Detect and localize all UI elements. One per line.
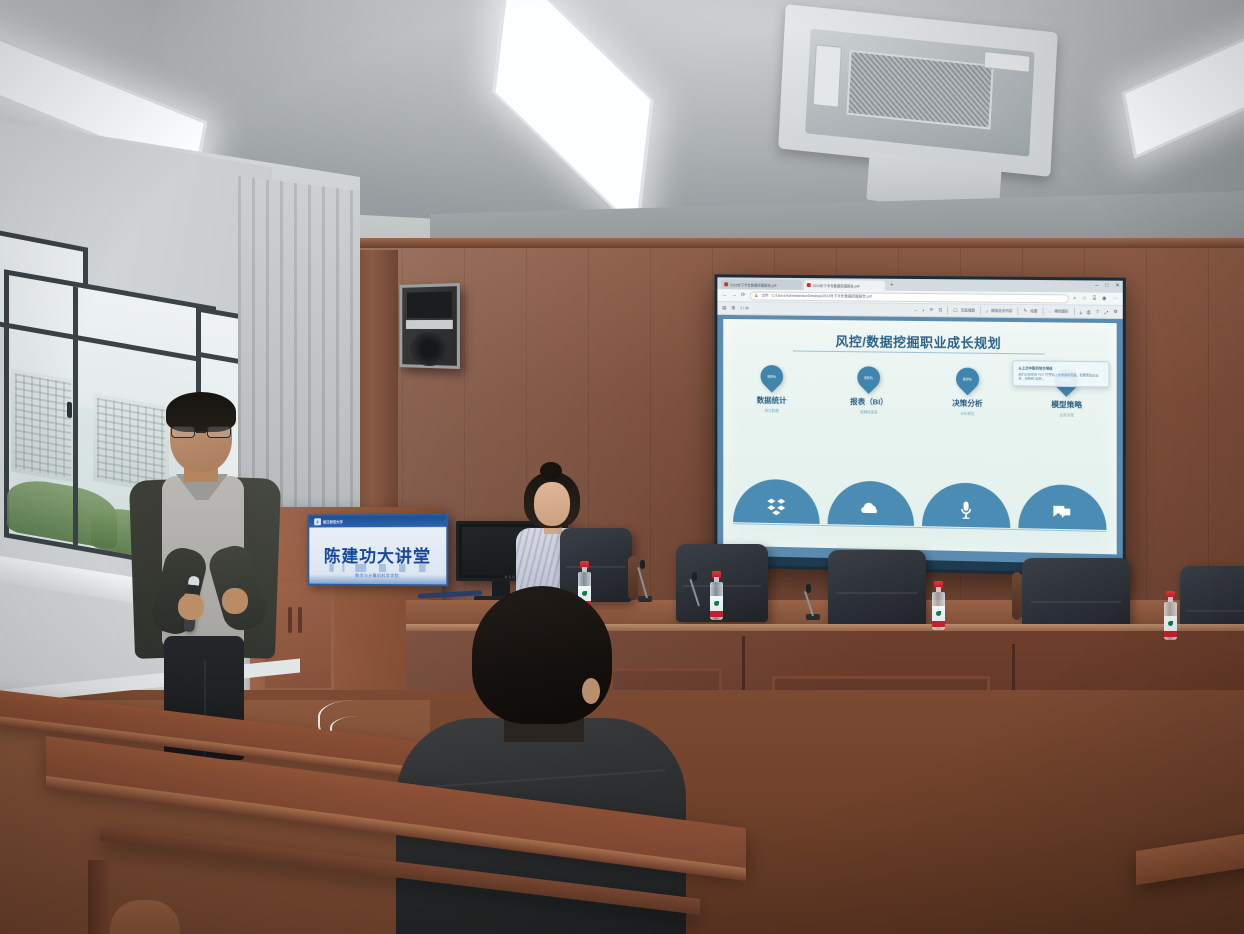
close-button[interactable]: ✕: [1115, 283, 1119, 289]
microphone-head-2: [692, 572, 697, 581]
tooltip-body: 我们已将你的 PDF 打开到上次阅读的页面。若要更改此设置，请转到“设置”。: [1018, 372, 1103, 382]
audience-ear: [582, 678, 600, 704]
water-bottle-2[interactable]: [710, 572, 723, 620]
bottle-label: [1164, 616, 1177, 631]
stage-1-sub: 统计数据: [765, 409, 779, 414]
stage-4-sub: 业务决策: [1059, 413, 1074, 418]
reload-icon[interactable]: ⟳: [741, 292, 746, 298]
slide-title: 风控/数据挖掘职业成长规划: [723, 330, 1116, 354]
university-logo-text: 浙江师范大学: [323, 519, 343, 524]
toolbar-separator: [1017, 307, 1018, 315]
new-tab-button[interactable]: +: [890, 282, 894, 291]
presenter-glasses: [170, 426, 232, 438]
forward-icon[interactable]: →: [732, 292, 737, 298]
ac-grille: [847, 50, 994, 130]
highlight-icon: ✎: [1023, 308, 1027, 314]
toolbar-spacer: [754, 308, 910, 310]
cloud-upload-icon: [861, 498, 881, 518]
presenter-hand-right: [222, 588, 248, 614]
bottle-body: [932, 592, 945, 630]
stage-2-pin: 85%: [853, 362, 885, 394]
zoom-out-button[interactable]: −: [914, 307, 917, 312]
podium-handle[interactable]: [298, 607, 302, 633]
browser-tab-2[interactable]: 2023年下半年数据挖掘报告.pdf: [804, 280, 885, 291]
microphone-head-3: [806, 584, 811, 593]
settings-icon[interactable]: ⚙: [1113, 309, 1117, 315]
stage-3-pin-value: 90%: [963, 377, 972, 382]
url-scheme-label: 文件: [762, 293, 769, 298]
stage-1-pin-value: 90%: [767, 374, 775, 379]
browser-tab-1-title: 2023年下半年数据挖掘报告.pdf: [730, 282, 776, 287]
bottle-label: [710, 596, 723, 611]
read-aloud-icon: ♪: [986, 308, 988, 313]
speaker-badge: [406, 320, 453, 329]
building-view-left: [11, 368, 75, 482]
star-icon[interactable]: ☆: [1082, 295, 1087, 301]
window-controls: – □ ✕: [1095, 283, 1119, 289]
university-logo-mark: Z: [314, 518, 321, 525]
water-bottle-4[interactable]: [1164, 592, 1177, 640]
chat-bubbles-icon: [1052, 502, 1072, 523]
bottle-label: [932, 606, 945, 621]
bottle-body: [710, 582, 723, 620]
address-bar-actions: ⌕ ☆ ⌸ ◉ ⋯: [1073, 295, 1117, 301]
stage-2-icon-dome: [827, 480, 914, 526]
stage-2-pin-value: 85%: [865, 375, 874, 380]
stage-3: 90% 决策分析 分析报告: [918, 367, 1017, 418]
page-fit-icon[interactable]: ⊞: [731, 305, 735, 311]
presenter-person: [118, 398, 286, 758]
podium-banner: Z 浙江师范大学 陈建功大讲堂 数学与计算机科学学院: [307, 514, 448, 587]
projection-screen: 2023年下半年数据挖掘报告.pdf 2023年下半年数据挖掘报告.pdf + …: [714, 274, 1125, 577]
skyline-graphic: [323, 564, 433, 572]
microphone-icon: [956, 500, 976, 520]
pdf-favicon: [724, 282, 728, 286]
stage-3-label: 决策分析: [952, 397, 982, 408]
stage-4-icon-dome: [1018, 484, 1107, 530]
stage-4-label: 模型策略: [1051, 399, 1082, 411]
menu-icon[interactable]: ⋯: [1113, 296, 1118, 302]
stage-3-pin: 90%: [951, 363, 984, 396]
university-logo: Z 浙江师范大学: [314, 518, 343, 525]
pdf-tool-draw-label: 绘图: [1030, 309, 1037, 314]
stage-2: 85% 报表（BI） 周期性报表: [820, 366, 918, 416]
bottle-leaf-icon: [936, 611, 941, 616]
wood-wall-trim: [340, 238, 1244, 248]
speaker-tweeter-grille: [407, 291, 452, 318]
bottle-leaf-icon: [714, 601, 719, 606]
stage-icon-row: [733, 479, 1106, 530]
stage-2-label: 报表（BI）: [850, 396, 888, 408]
rotate-button[interactable]: ⟳: [930, 307, 934, 313]
zoom-in-button[interactable]: +: [922, 308, 925, 313]
pdf-tool-read-aloud[interactable]: ♪ 朗读此页内容: [986, 308, 1012, 313]
conference-chair-3[interactable]: [828, 550, 926, 630]
window-handle[interactable]: [67, 401, 72, 418]
browser-tab-1[interactable]: 2023年下半年数据挖掘报告.pdf: [721, 279, 802, 290]
pdf-resume-tooltip[interactable]: 从上次中断的地方继续 我们已将你的 PDF 打开到上次阅读的页面。若要更改此设置…: [1012, 360, 1109, 387]
bottle-label-red: [932, 621, 945, 627]
air-conditioner-cassette: [778, 4, 1058, 177]
pdf-tool-erase[interactable]: ◌ 擦除图形: [1049, 309, 1069, 314]
url-input[interactable]: 🔒 文件 C:/Users/Administrator/Desktop/2023…: [749, 291, 1069, 303]
bottle-label-red: [710, 611, 723, 617]
speaker-woofer-icon: [410, 332, 449, 367]
pdf-tool-draw[interactable]: ✎ 绘图: [1023, 308, 1037, 314]
lock-icon: 🔒: [754, 293, 758, 297]
share-icon[interactable]: ⇪: [1096, 309, 1100, 315]
stage-1-icon-dome: [733, 479, 819, 524]
pdf-favicon: [807, 283, 811, 287]
toolbar-separator: [1042, 307, 1043, 315]
pdf-tool-read-aloud-label: 朗读此页内容: [991, 308, 1012, 313]
sidebar-toggle-icon[interactable]: ▤: [722, 305, 726, 311]
browser-tab-2-title: 2023年下半年数据挖掘报告.pdf: [813, 283, 860, 288]
stage-3-sub: 分析报告: [960, 412, 974, 417]
page-view-icon: ▢: [953, 307, 957, 313]
operator-face: [534, 482, 570, 526]
toolbar-separator: [947, 306, 948, 314]
toolbar-separator: [1074, 308, 1075, 316]
toolbar-separator: [980, 307, 981, 315]
operator-hair-bun: [540, 462, 562, 480]
collections-icon[interactable]: ⌸: [1093, 296, 1096, 302]
fullscreen-icon[interactable]: ⤢: [1105, 309, 1109, 314]
minimize-button[interactable]: –: [1095, 283, 1098, 289]
print-icon[interactable]: ⎙: [1087, 309, 1091, 314]
bottle-leaf-icon: [1168, 621, 1173, 626]
profile-icon[interactable]: ◉: [1102, 296, 1106, 302]
tooltip-title: 从上次中断的地方继续: [1018, 365, 1103, 371]
erase-icon: ◌: [1049, 309, 1052, 314]
ac-vent: [813, 44, 842, 107]
stage-1: 90% 数据统计 统计数据: [723, 365, 820, 415]
url-text: C:/Users/Administrator/Desktop/2023年下半年数…: [772, 293, 872, 299]
lecture-room-photo: 2023年下半年数据挖掘报告.pdf 2023年下半年数据挖掘报告.pdf + …: [0, 0, 1244, 934]
stage-1-pin: 90%: [756, 360, 788, 392]
pdf-tool-erase-label: 擦除图形: [1054, 309, 1068, 314]
bottle-body: [1164, 602, 1177, 640]
banner-subtitle: 数学与计算机科学学院: [309, 573, 446, 580]
water-bottle-3[interactable]: [932, 582, 945, 630]
back-icon[interactable]: ←: [722, 292, 727, 298]
presenter-hand-left: [178, 594, 204, 620]
microphone-head-1: [640, 560, 645, 569]
pdf-tool-page-view[interactable]: ▢ 页面视图: [953, 307, 974, 313]
front-desk-leg: [88, 860, 110, 934]
presentation-slide: 风控/数据挖掘职业成长规划 90% 数据统计 统计数据 85%: [723, 319, 1116, 554]
ac-inner-frame: [805, 29, 1035, 157]
browser-window: 2023年下半年数据挖掘报告.pdf 2023年下半年数据挖掘报告.pdf + …: [717, 277, 1122, 573]
bottle-label-red: [1164, 631, 1177, 637]
fit-page-button[interactable]: ⊡: [939, 307, 943, 313]
save-icon[interactable]: ⤓: [1080, 309, 1082, 314]
boxes-icon: [766, 496, 786, 516]
stage-2-sub: 周期性报表: [860, 410, 878, 415]
stage-1-label: 数据统计: [757, 395, 787, 406]
search-icon[interactable]: ⌕: [1073, 295, 1076, 301]
chair-armrest: [1012, 572, 1022, 620]
podium-handle[interactable]: [288, 607, 292, 633]
pdf-page-indicator[interactable]: 1 / 28: [740, 306, 749, 310]
pdf-viewport: 风控/数据挖掘职业成长规划 90% 数据统计 统计数据 85%: [717, 315, 1122, 565]
maximize-button[interactable]: □: [1105, 283, 1108, 289]
pdf-tool-page-view-label: 页面视图: [961, 308, 975, 313]
stage-3-icon-dome: [922, 482, 1010, 528]
window-mullion: [73, 286, 78, 545]
wall-speaker: [399, 283, 459, 369]
